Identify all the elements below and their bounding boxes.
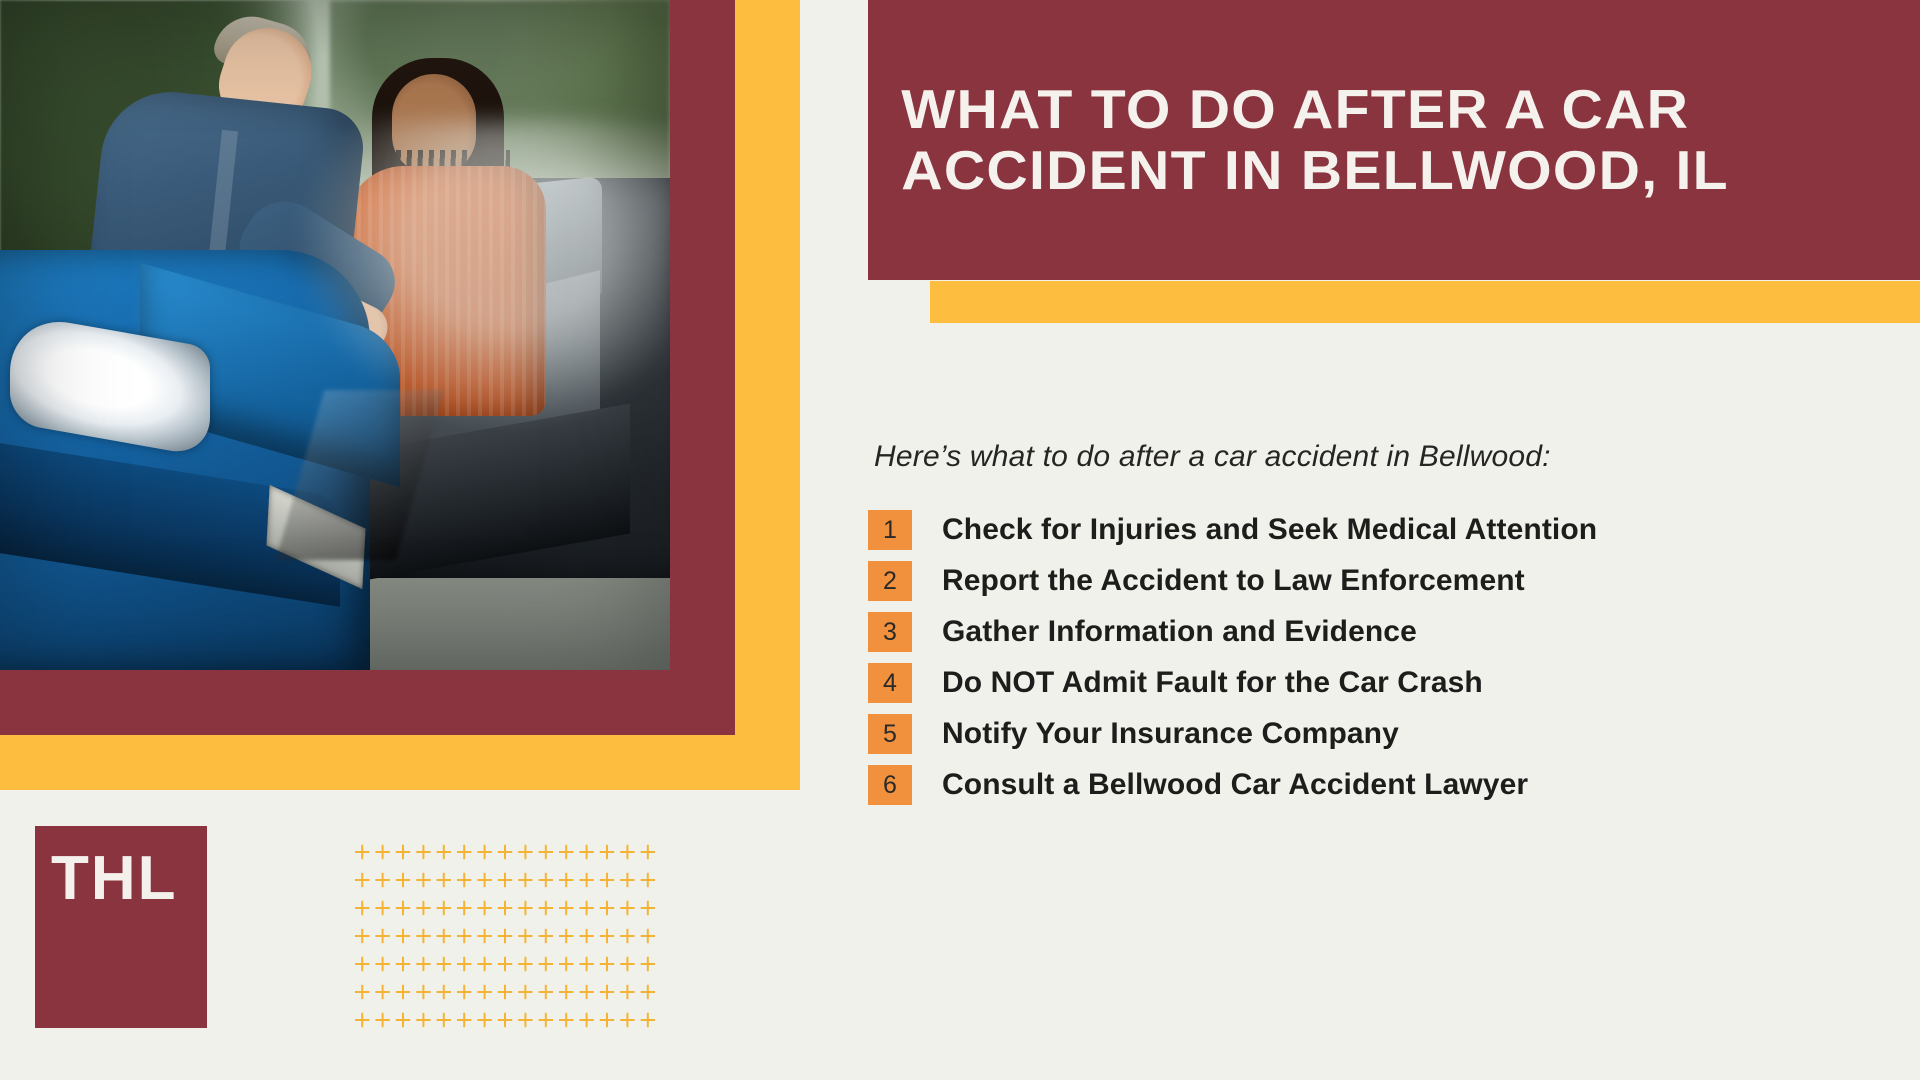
step-number-badge: 6: [868, 765, 912, 805]
step-number-badge: 1: [868, 510, 912, 550]
header-accent-bar: [930, 281, 1920, 323]
step-label: Check for Injuries and Seek Medical Atte…: [942, 513, 1597, 547]
step-label: Gather Information and Evidence: [942, 615, 1417, 649]
step-item: 2Report the Accident to Law Enforcement: [868, 561, 1868, 601]
step-label: Notify Your Insurance Company: [942, 717, 1399, 751]
step-number-badge: 4: [868, 663, 912, 703]
photo-vignette: [0, 0, 670, 670]
steps-list: 1Check for Injuries and Seek Medical Att…: [868, 510, 1868, 805]
step-item: 3Gather Information and Evidence: [868, 612, 1868, 652]
thl-logo-text: THL: [35, 826, 207, 910]
content-panel: Here’s what to do after a car accident i…: [868, 440, 1868, 816]
step-label: Report the Accident to Law Enforcement: [942, 564, 1525, 598]
thl-logo: THL: [35, 826, 207, 1028]
step-item: 4Do NOT Admit Fault for the Car Crash: [868, 663, 1868, 703]
step-label: Do NOT Admit Fault for the Car Crash: [942, 666, 1483, 700]
accident-photo: [0, 0, 670, 670]
step-item: 5Notify Your Insurance Company: [868, 714, 1868, 754]
step-label: Consult a Bellwood Car Accident Lawyer: [942, 768, 1528, 802]
intro-text: Here’s what to do after a car accident i…: [874, 440, 1868, 474]
plus-grid-decoration: [352, 838, 658, 1034]
step-item: 6Consult a Bellwood Car Accident Lawyer: [868, 765, 1868, 805]
left-column: THL: [0, 0, 820, 1080]
header-block: What To Do After A Car Accident In Bellw…: [868, 0, 1920, 280]
step-number-badge: 5: [868, 714, 912, 754]
step-number-badge: 3: [868, 612, 912, 652]
step-number-badge: 2: [868, 561, 912, 601]
page-title: What To Do After A Car Accident In Bellw…: [868, 37, 1920, 202]
step-item: 1Check for Injuries and Seek Medical Att…: [868, 510, 1868, 550]
